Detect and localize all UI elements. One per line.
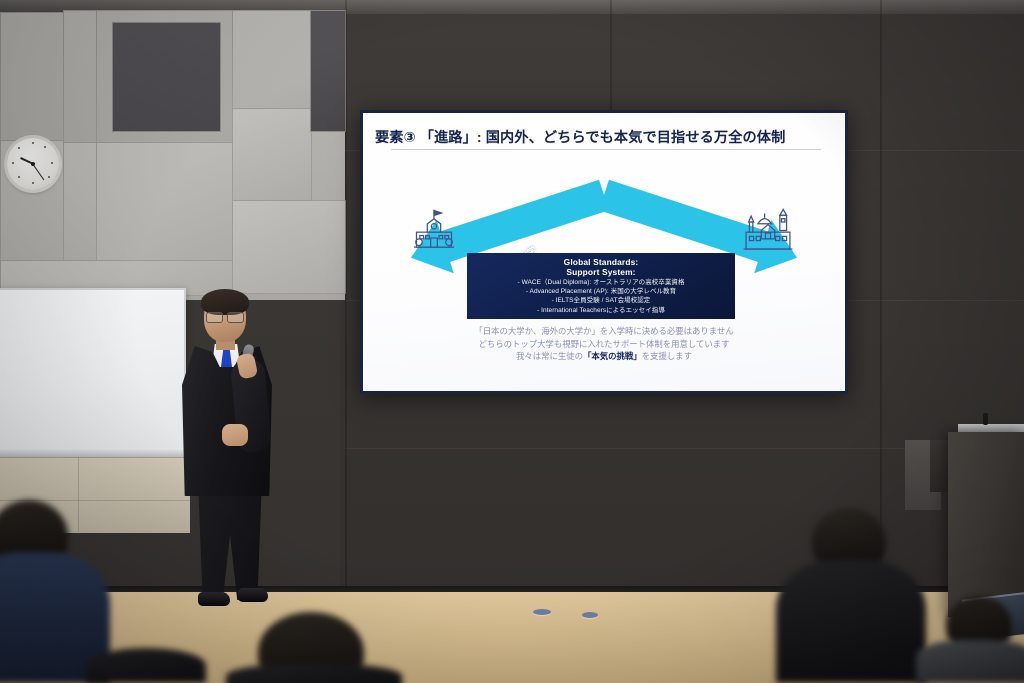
wall-cabinet-glass-pane xyxy=(112,22,221,132)
presenter-shoe xyxy=(238,588,268,602)
info-box-heading-1: Global Standards: xyxy=(467,257,735,267)
audience-shoulders xyxy=(86,648,206,683)
domestic-school-icon xyxy=(409,207,459,259)
audience-shoulders xyxy=(776,560,926,683)
info-box-bullet: - Advanced Placement (AP): 米国の大学レベル教育 xyxy=(467,287,735,296)
floor-marker xyxy=(582,612,598,618)
lecture-hall-photo: 要素③ 「進路」: 国内外、どちらでも本気で目指せる万全の体制 国内トップ大学 … xyxy=(0,0,1024,683)
podium-microphone xyxy=(983,413,988,425)
info-box-bullet: - International Teachersによるエッセイ指導 xyxy=(467,306,735,315)
wall-seam-vertical xyxy=(610,0,612,110)
floor-marker xyxy=(533,609,551,615)
footer-line-3-post: を支援します xyxy=(642,351,692,361)
cabinet-seam xyxy=(78,457,79,532)
info-box-bullet: - WACE（Dual Diploma): オーストラリアの高校卒業資格 xyxy=(467,278,735,287)
wall-panel xyxy=(0,12,64,142)
presenter-shoe xyxy=(198,592,230,606)
wall-panel xyxy=(232,10,312,110)
wall-recess xyxy=(310,10,346,132)
slide-title: 要素③ 「進路」: 国内外、どちらでも本気で目指せる万全の体制 xyxy=(375,127,833,147)
footer-line-3: 我々は常に生徒の「本気の挑戦」を支援します xyxy=(363,350,845,363)
global-standards-box: Global Standards: Support System: - WACE… xyxy=(467,253,735,319)
wall-panel xyxy=(63,10,97,144)
footer-line-3-highlight: 「本気の挑戦」 xyxy=(583,351,642,361)
slide-footer-text: 「日本の大学か、海外の大学か」を入学時に決める必要はありません どちらのトップ大… xyxy=(363,325,845,363)
footer-line-2: どちらのトップ大学も視野に入れたサポート体制を用意しています xyxy=(363,338,845,351)
presenter-legs xyxy=(194,488,266,600)
whiteboard-tray xyxy=(0,448,190,457)
projection-screen: 要素③ 「進路」: 国内外、どちらでも本気で目指せる万全の体制 国内トップ大学 … xyxy=(360,110,848,394)
title-divider xyxy=(391,149,821,150)
wall-panel xyxy=(96,142,233,262)
presenter-hand xyxy=(222,424,248,446)
whiteboard xyxy=(0,288,186,452)
podium xyxy=(948,432,1024,617)
wall-seam-vertical xyxy=(345,0,347,592)
slide: 要素③ 「進路」: 国内外、どちらでも本気で目指せる万全の体制 国内トップ大学 … xyxy=(363,113,845,391)
overseas-university-icon xyxy=(741,205,795,261)
wall-seam-vertical xyxy=(880,0,882,592)
wall-panel xyxy=(63,142,97,262)
presenter xyxy=(176,292,292,622)
clock-minute-hand xyxy=(32,164,44,180)
info-box-heading-2: Support System: xyxy=(467,267,735,277)
footer-line-3-pre: 我々は常に生徒の xyxy=(516,351,583,361)
info-box-bullet: - IELTS全員受験 / SAT会場校認定 xyxy=(467,296,735,305)
audience-shoulders xyxy=(916,640,1024,683)
wall-panel xyxy=(232,200,346,294)
wall-panel xyxy=(232,108,312,202)
footer-line-1: 「日本の大学か、海外の大学か」を入学時に決める必要はありません xyxy=(363,325,845,338)
presenter-glasses xyxy=(206,312,244,321)
audience-shoulders xyxy=(226,664,402,683)
wall-clock xyxy=(7,138,59,190)
